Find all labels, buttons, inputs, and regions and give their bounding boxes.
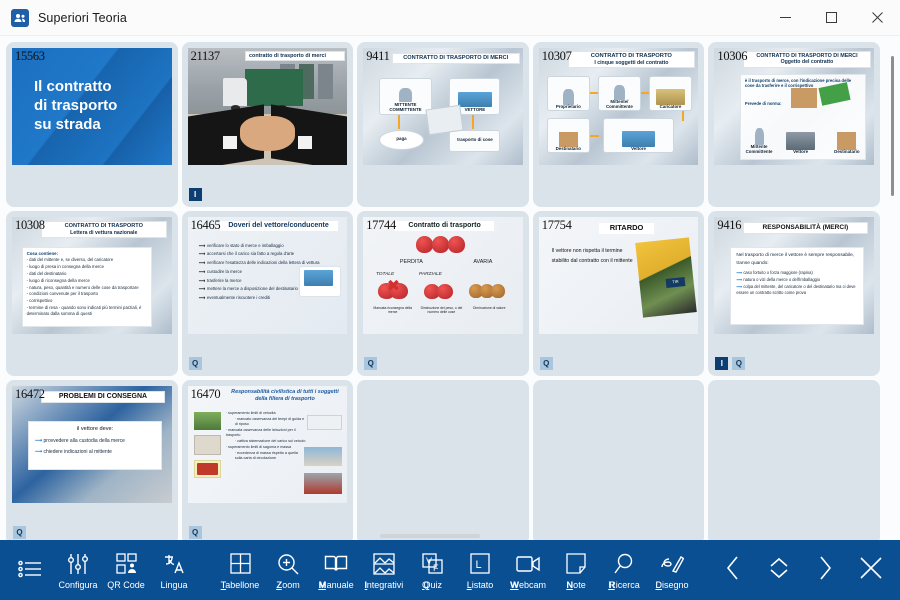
badge-quiz[interactable]: Q <box>189 526 202 539</box>
slide-artwork: RITARDO Il vettore non rispetta il termi… <box>539 217 699 334</box>
slide-artwork: contratto di trasporto di merci <box>188 48 348 165</box>
slide-header: Doveri del vettore/conducente <box>220 221 338 231</box>
slide-badges: Q <box>540 357 553 370</box>
slide-subheader: Lettera di vettura nazionale <box>45 230 163 236</box>
caption: Diminuzione di valore <box>469 306 510 310</box>
slide-card-empty[interactable] <box>708 380 880 540</box>
chevron-updown-icon <box>767 556 791 585</box>
node-label: Destinatario <box>834 150 859 155</box>
slide-header: Responsabilità civilistica di tutti i so… <box>227 389 342 403</box>
slide-card[interactable]: contratto di trasporto di merci 21137 I <box>182 42 354 207</box>
node-label: trasporto di cose <box>457 138 493 143</box>
slide-number: 16465 <box>191 218 221 233</box>
bullet-item: ⟶verificare lo stato di merce e imballag… <box>199 242 341 250</box>
slide-header: CONTRATTO DI TRASPORTO I cinque soggetti… <box>568 51 696 68</box>
slide-card[interactable]: Doveri del vettore/conducente ⟶verificar… <box>182 211 354 376</box>
listato-icon: L <box>470 551 490 577</box>
slide-thumbnail[interactable]: PROBLEMI DI CONSEGNA il vettore deve: ⟶ … <box>12 386 172 503</box>
maximize-button[interactable] <box>808 0 854 36</box>
slide-subheader: I cinque soggetti del contratto <box>572 60 692 66</box>
caption: Mancata riconsegna della merce <box>371 306 414 314</box>
slide-header: PROBLEMI DI CONSEGNA <box>41 391 166 403</box>
node-label: VETTORE <box>465 108 486 113</box>
slide-number: 15563 <box>15 49 45 64</box>
slide-card[interactable]: CONTRATTO DI TRASPORTO I cinque soggetti… <box>533 42 705 207</box>
bullet-item: - dati del destinatario <box>27 271 148 277</box>
badge-quiz[interactable]: Q <box>540 357 553 370</box>
badge-quiz[interactable]: Q <box>13 526 26 539</box>
qrcode-icon <box>116 551 137 577</box>
chevron-left-icon <box>725 555 741 586</box>
slide-thumbnail[interactable]: contratto di trasporto di merci 21137 <box>188 48 348 165</box>
bullet-item: - corrispettivo <box>27 298 148 304</box>
slide-badges: I Q <box>715 357 745 370</box>
list-icon <box>18 556 42 582</box>
slide-artwork: CONTRATTO DI TRASPORTO Lettera di vettur… <box>12 217 172 334</box>
node-label: Mittente Committente <box>742 145 777 154</box>
caption: Diminuzione del peso, o del numero delle… <box>417 306 465 314</box>
pencil-icon <box>661 551 684 577</box>
prev-button[interactable] <box>710 543 756 597</box>
slide-badges: Q <box>13 526 26 539</box>
webcam-button[interactable]: WWebcam <box>504 543 552 597</box>
bullet-item: - termine di resa - quando sono indicati… <box>27 305 148 317</box>
zoom-button[interactable]: ZZoom <box>264 543 312 597</box>
slide-thumbnail[interactable]: Responsabilità civilistica di tutti i so… <box>188 386 348 503</box>
bullet-item: · cattiva sistemazione del carico sul ve… <box>235 439 306 444</box>
slide-number: 9411 <box>366 49 389 64</box>
slide-card-empty[interactable] <box>357 380 529 540</box>
webcam-icon <box>516 551 540 577</box>
slide-thumbnail[interactable]: CONTRATTO DI TRASPORTO I cinque soggetti… <box>539 48 699 165</box>
slide-header: RITARDO <box>599 223 653 234</box>
slide-card-empty[interactable] <box>533 380 705 540</box>
slide-card[interactable]: CONTRATTO DI TRASPORTO Lettera di vettur… <box>6 211 178 376</box>
label-parziale: PARZIALE <box>419 272 442 277</box>
slide-number: 10308 <box>15 218 45 233</box>
bullet-item: - condizioni convenute per il trasporto <box>27 291 148 297</box>
tool-label: WWebcam <box>510 580 546 590</box>
tabellone-button[interactable]: TTabellone <box>216 543 264 597</box>
exit-button[interactable] <box>848 543 894 597</box>
horizontal-scrollbar-thumb[interactable] <box>380 534 480 538</box>
bullet-item: - luogo di riconsegna della merce <box>27 278 148 284</box>
slide-artwork: Doveri del vettore/conducente ⟶verificar… <box>188 217 348 334</box>
slide-badges: I <box>189 188 202 201</box>
bullet-item: ⟶ chiedere indicazioni al mittente <box>35 447 155 457</box>
app-window: Superiori Teoria Il contratto di traspor… <box>0 0 900 600</box>
bullet-item: - luogo di presa in consegna della merce <box>27 264 148 270</box>
language-icon <box>163 551 185 577</box>
tool-label: TTabellone <box>221 580 260 590</box>
window-title: Superiori Teoria <box>38 11 127 25</box>
note-button[interactable]: NNote <box>552 543 600 597</box>
close-button[interactable] <box>854 0 900 36</box>
slide-artwork: CONTRATTO DI TRASPORTO DI MERCI Oggetto … <box>714 48 874 165</box>
slide-card[interactable]: Responsabilità civilistica di tutti i so… <box>182 380 354 540</box>
slide-number: 10307 <box>542 49 572 64</box>
slide-header: CONTRATTO DI TRASPORTO Lettera di vettur… <box>41 221 167 238</box>
slide-body: Nel trasporto di merce il vettore è semp… <box>736 252 858 267</box>
listato-button[interactable]: L LListato <box>456 543 504 597</box>
tool-label: QQuiz <box>422 580 442 590</box>
slide-artwork: RESPONSABILITÀ (MERCI) Nel trasporto di … <box>714 217 874 334</box>
svg-text:F: F <box>433 563 439 573</box>
bullet-item: ⟶ colpa del mittente, del caricatore o d… <box>736 284 858 296</box>
slide-header: Contratto di trasporto <box>395 221 494 231</box>
ricerca-button[interactable]: RRicerca <box>600 543 648 597</box>
slide-number: 16472 <box>15 387 45 402</box>
bullet-item: - natura, peso, quantità e numero delle … <box>27 285 148 291</box>
quiz-icon: V F <box>422 551 443 577</box>
slide-artwork: Responsabilità civilistica di tutti i so… <box>188 386 348 503</box>
images-icon <box>373 551 395 577</box>
zoom-in-icon <box>277 551 299 577</box>
slide-badges: Q <box>364 357 377 370</box>
tool-label: MManuale <box>318 580 353 590</box>
slide-number: 17744 <box>366 218 396 233</box>
slide-number: 16470 <box>191 387 221 402</box>
grid-icon <box>230 551 251 577</box>
slide-number: 10306 <box>717 49 747 64</box>
bullet-list: ⟶ caso fortuito o forza maggiore (rapina… <box>736 270 858 296</box>
slide-header: CONTRATTO DI TRASPORTO DI MERCI Oggetto … <box>743 51 871 68</box>
node-label: Vettore <box>793 150 808 155</box>
slide-artwork: Il contratto di trasporto su strada <box>12 48 172 165</box>
bullet-item: ⟶ provvedere alla custodia della merce <box>35 436 155 446</box>
slide-card[interactable]: RESPONSABILITÀ (MERCI) Nel trasporto di … <box>708 211 880 376</box>
tool-label: Configura <box>58 580 97 590</box>
bullet-item: ⟶accertarsi che il carico sia fatto a re… <box>199 250 341 258</box>
bullet-item: ⟶ caso fortuito o forza maggiore (rapina… <box>736 270 858 276</box>
badge-quiz[interactable]: Q <box>732 357 745 370</box>
slide-number: 21137 <box>191 49 220 64</box>
slide-body: Il vettore non rispetta il termine stabi… <box>552 247 635 265</box>
panel-title: Cosa contiene: <box>27 251 148 256</box>
tool-label: RRicerca <box>608 580 640 590</box>
list-menu-button[interactable] <box>6 543 54 597</box>
slide-number: 17754 <box>542 218 572 233</box>
sliders-icon <box>67 551 89 577</box>
badge-quiz[interactable]: Q <box>364 357 377 370</box>
bullet-item: · mancata osservanza delle istruzioni pe… <box>226 428 306 439</box>
panel-title: il vettore deve: <box>35 426 155 432</box>
search-icon <box>613 551 635 577</box>
slide-subheader: Oggetto del contratto <box>747 59 867 65</box>
badge-info[interactable]: I <box>189 188 202 201</box>
slide-card[interactable]: Contratto di trasporto PERDITA AVARIA TO… <box>357 211 529 376</box>
minimize-button[interactable] <box>762 0 808 36</box>
tool-label: QR Code <box>107 580 145 590</box>
svg-text:L: L <box>476 559 482 571</box>
chevron-right-icon <box>817 555 833 586</box>
bullet-list: ⟶ provvedere alla custodia della merce ⟶… <box>35 436 155 457</box>
bullet-list: · superamento limiti di velocità · manca… <box>226 411 306 463</box>
bullet-item: ⟶ natura o vizi della merce o dell'imbal… <box>736 277 858 283</box>
slide-title-text: Il contratto di trasporto su strada <box>34 78 117 134</box>
bullet-item: · superamento limiti di sagoma e massa <box>226 445 306 450</box>
slide-grid-area: Il contratto di trasporto su strada 1556… <box>0 36 900 540</box>
slide-thumbnail[interactable]: RESPONSABILITÀ (MERCI) Nel trasporto di … <box>714 217 874 334</box>
slide-card[interactable]: CONTRATTO DI TRASPORTO DI MERCI Oggetto … <box>708 42 880 207</box>
node-label: Vettore <box>631 147 646 152</box>
slide-artwork: PROBLEMI DI CONSEGNA il vettore deve: ⟶ … <box>12 386 172 503</box>
tool-label: Lingua <box>160 580 187 590</box>
slide-thumbnail[interactable]: RITARDO Il vettore non rispetta il termi… <box>539 217 699 334</box>
vertical-scrollbar[interactable] <box>886 36 900 540</box>
people-icon <box>11 9 29 27</box>
tool-label: NNote <box>566 580 585 590</box>
slide-thumbnail[interactable]: Doveri del vettore/conducente ⟶verificar… <box>188 217 348 334</box>
slide-card[interactable]: PROBLEMI DI CONSEGNA il vettore deve: ⟶ … <box>6 380 178 540</box>
bottom-toolbar: Configura QR Code Lingua <box>0 540 900 600</box>
scrollbar-thumb[interactable] <box>891 56 894 196</box>
slide-header: RESPONSABILITÀ (MERCI) <box>743 222 868 234</box>
close-x-icon <box>859 556 883 585</box>
tool-label: ZZoom <box>276 580 300 590</box>
slide-thumbnail[interactable]: CONTRATTO DI TRASPORTO DI MERCI Oggetto … <box>714 48 874 165</box>
next-button[interactable] <box>802 543 848 597</box>
slide-header: CONTRATTO DI TRASPORTO DI MERCI <box>392 53 520 64</box>
slide-card[interactable]: RITARDO Il vettore non rispetta il termi… <box>533 211 705 376</box>
disegno-button[interactable]: DDisegno <box>648 543 696 597</box>
slide-header: contratto di trasporto di merci <box>245 51 345 61</box>
slide-card[interactable]: CONTRATTO DI TRASPORTO DI MERCI MITTENTE… <box>357 42 529 207</box>
qrcode-button[interactable]: QR Code <box>102 543 150 597</box>
label-perdita: PERDITA <box>400 259 423 265</box>
node-label: Destinatario <box>556 147 581 152</box>
configura-button[interactable]: Configura <box>54 543 102 597</box>
quiz-button[interactable]: V F QQuiz <box>408 543 456 597</box>
label-avaria: AVARIA <box>473 259 492 265</box>
slide-badges: Q <box>189 357 202 370</box>
slide-artwork: CONTRATTO DI TRASPORTO DI MERCI MITTENTE… <box>363 48 523 165</box>
book-icon <box>324 551 348 577</box>
slide-card[interactable]: Il contratto di trasporto su strada 1556… <box>6 42 178 207</box>
bullet-item: · superamento limiti di velocità <box>226 411 306 416</box>
note-icon <box>566 551 586 577</box>
slide-thumbnail[interactable]: CONTRATTO DI TRASPORTO Lettera di vettur… <box>12 217 172 334</box>
node-label: MITTENTE COMMITTENTE <box>380 103 431 112</box>
bullet-item: · mancato osservanza dei tempi di guida … <box>235 417 306 428</box>
lingua-button[interactable]: Lingua <box>150 543 198 597</box>
badge-quiz[interactable]: Q <box>189 357 202 370</box>
bullet-item: - dati del mittente e, se diverso, del c… <box>27 257 148 263</box>
label-totale: TOTALE <box>376 272 394 277</box>
badge-info[interactable]: I <box>715 357 728 370</box>
node-label: Proprietario <box>556 105 581 110</box>
node-label: Mittente/ Committente <box>599 100 640 109</box>
expand-button[interactable] <box>756 543 802 597</box>
title-bar: Superiori Teoria <box>0 0 900 36</box>
node-label: paga <box>396 137 406 142</box>
bullet-item: · eccedenza di massa rispetto a quella s… <box>235 451 306 462</box>
tool-label: DDisegno <box>655 580 688 590</box>
tool-label: IIntegrativi <box>365 580 404 590</box>
slide-grid: Il contratto di trasporto su strada 1556… <box>0 36 886 540</box>
slide-artwork: CONTRATTO DI TRASPORTO I cinque soggetti… <box>539 48 699 165</box>
slide-artwork: Contratto di trasporto PERDITA AVARIA TO… <box>363 217 523 334</box>
svg-text:V: V <box>426 556 432 566</box>
tool-label: LListato <box>467 580 494 590</box>
integrativi-button[interactable]: IIntegrativi <box>360 543 408 597</box>
slide-thumbnail[interactable]: Contratto di trasporto PERDITA AVARIA TO… <box>363 217 523 334</box>
node-label: Caricatore <box>660 105 682 110</box>
slide-thumbnail[interactable]: CONTRATTO DI TRASPORTO DI MERCI MITTENTE… <box>363 48 523 165</box>
slide-number: 9416 <box>717 218 741 233</box>
bullet-list: - dati del mittente e, se diverso, del c… <box>27 257 148 317</box>
manuale-button[interactable]: MManuale <box>312 543 360 597</box>
slide-badges: Q <box>189 526 202 539</box>
slide-thumbnail[interactable]: Il contratto di trasporto su strada 1556… <box>12 48 172 165</box>
